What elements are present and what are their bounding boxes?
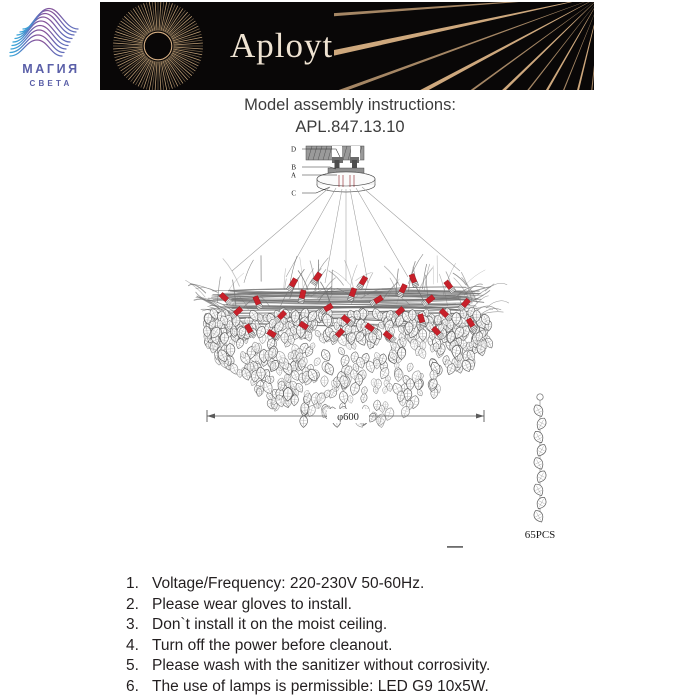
- logo-wave-icon: [4, 6, 98, 62]
- crystal-strand-sample: [532, 394, 548, 524]
- list-item: 5. Please wash with the sanitizer withou…: [126, 656, 596, 677]
- sunburst-icon: [112, 2, 204, 90]
- strand-count-label: 65PCS: [525, 529, 556, 541]
- instruction-sheet: МАГИЯ СВЕТА Aployt Model assembly instru…: [0, 0, 700, 700]
- list-item-number: 3.: [126, 615, 152, 636]
- callout-b: B: [291, 164, 296, 172]
- list-item: 1. Voltage/Frequency: 220-230V 50-60Hz.: [126, 574, 596, 595]
- logo-wordmark: МАГИЯ: [4, 62, 98, 76]
- list-item-text: Please wash with the sanitizer without c…: [152, 656, 596, 677]
- list-item-number: 1.: [126, 574, 152, 595]
- list-item-number: 4.: [126, 636, 152, 657]
- list-item: 4. Turn off the power before cleanout.: [126, 636, 596, 657]
- corner-rays-icon: [334, 2, 594, 90]
- aployt-wordmark: Aployt: [230, 24, 333, 68]
- list-item-number: 5.: [126, 656, 152, 677]
- list-item-text: Don`t install it on the moist ceiling.: [152, 615, 596, 636]
- list-item: 2. Please wear gloves to install.: [126, 595, 596, 616]
- aployt-brand-banner: Aployt: [100, 2, 594, 90]
- list-item-text: The use of lamps is permissible: LED G9 …: [152, 677, 596, 698]
- diameter-label: φ600: [337, 412, 359, 423]
- chandelier-body: [186, 254, 509, 429]
- instruction-list: 1. Voltage/Frequency: 220-230V 50-60Hz. …: [126, 574, 596, 698]
- diameter-dimension: φ600: [207, 409, 484, 423]
- list-item-text: Voltage/Frequency: 220-230V 50-60Hz.: [152, 574, 596, 595]
- page-header: МАГИЯ СВЕТА Aployt: [0, 0, 700, 95]
- assembly-drawing: D B A C φ600: [0, 135, 700, 565]
- logo-subword: СВЕТА: [4, 79, 98, 88]
- list-item-number: 6.: [126, 677, 152, 698]
- page-title: Model assembly instructions:: [0, 96, 700, 115]
- callout-c: C: [291, 190, 296, 198]
- list-item-number: 2.: [126, 595, 152, 616]
- magiya-sveta-logo: МАГИЯ СВЕТА: [4, 6, 98, 92]
- callout-d: D: [291, 146, 296, 154]
- ceiling-detail: D B A C: [291, 146, 375, 198]
- list-item-text: Turn off the power before cleanout.: [152, 636, 596, 657]
- list-item-text: Please wear gloves to install.: [152, 595, 596, 616]
- list-item: 6. The use of lamps is permissible: LED …: [126, 677, 596, 698]
- callout-a: A: [291, 172, 296, 180]
- list-item: 3. Don`t install it on the moist ceiling…: [126, 615, 596, 636]
- scale-dash-marker: [447, 546, 463, 548]
